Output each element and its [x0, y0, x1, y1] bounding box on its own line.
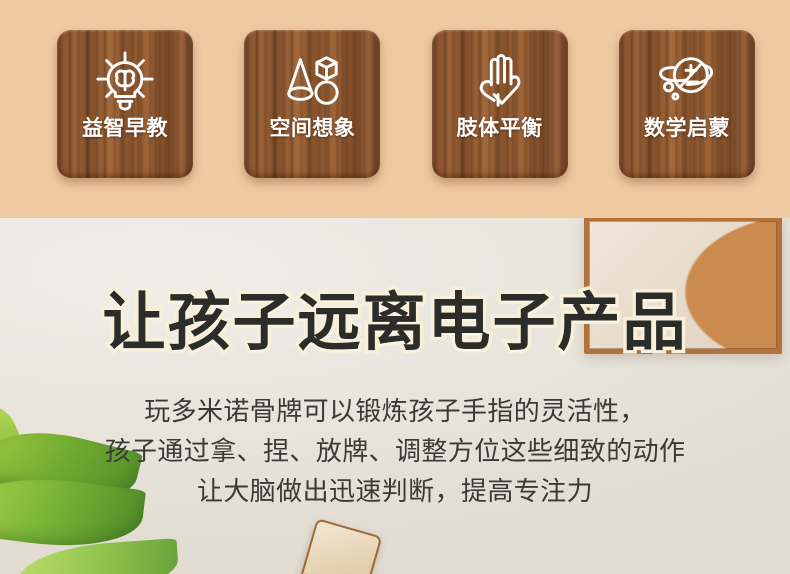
feature-card-math[interactable]: 数学启蒙	[619, 30, 755, 178]
feature-card-label: 肢体平衡	[457, 118, 543, 139]
feature-card-label: 空间想象	[269, 118, 355, 139]
feature-card-balance[interactable]: 肢体平衡	[432, 30, 568, 178]
feature-card-educational[interactable]: 益智早教	[57, 30, 193, 178]
feature-card-label: 数学启蒙	[644, 118, 730, 139]
wooden-domino-block	[296, 518, 383, 574]
feature-cards-row: 益智早教	[57, 30, 755, 178]
scene-section: 让孩子远离电子产品 玩多米诺骨牌可以锻炼孩子手指的灵活性， 孩子通过拿、捏、放牌…	[0, 218, 790, 574]
plant-leaf	[17, 538, 180, 574]
body-copy-line: 玩多米诺骨牌可以锻炼孩子手指的灵活性，	[0, 391, 790, 431]
geometric-solids-icon	[281, 50, 343, 112]
feature-banner: 益智早教	[0, 0, 790, 218]
body-copy: 玩多米诺骨牌可以锻炼孩子手指的灵活性， 孩子通过拿、捏、放牌、调整方位这些细致的…	[0, 391, 790, 511]
product-detail-page: 益智早教	[0, 0, 790, 574]
math-planet-icon	[656, 50, 718, 112]
body-copy-line: 孩子通过拿、捏、放牌、调整方位这些细致的动作	[0, 431, 790, 471]
brain-bulb-icon	[94, 50, 156, 112]
body-copy-line: 让大脑做出迅速判断，提高专注力	[0, 471, 790, 511]
open-hand-icon	[469, 50, 531, 112]
feature-card-label: 益智早教	[82, 118, 168, 139]
feature-card-spatial[interactable]: 空间想象	[244, 30, 380, 178]
page-headline: 让孩子远离电子产品	[0, 292, 790, 355]
